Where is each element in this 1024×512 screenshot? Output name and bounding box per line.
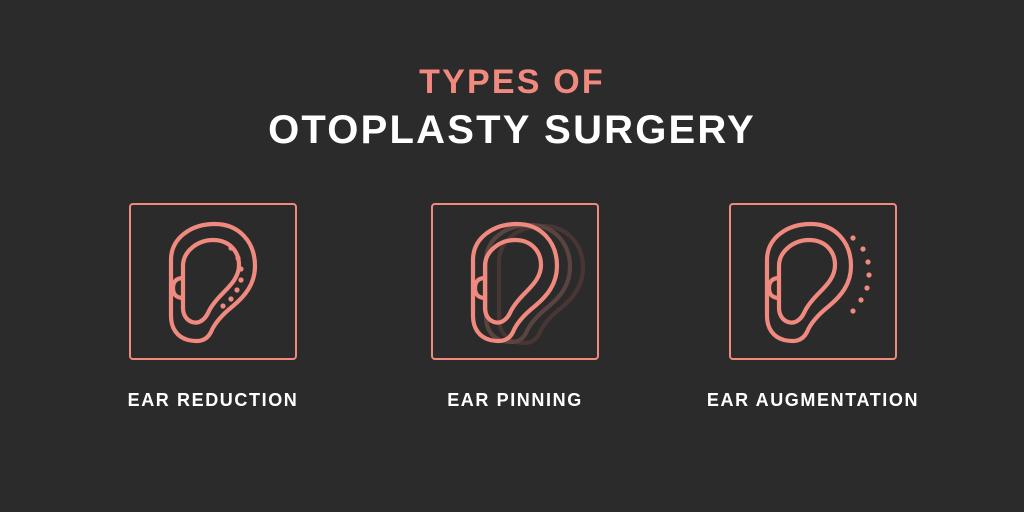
expansion-dot: [850, 235, 855, 240]
incision-dot: [238, 266, 243, 271]
title-line-types-of: TYPES OF: [0, 62, 1024, 102]
icon-box-ear-augmentation: [729, 203, 897, 360]
infographic-canvas: TYPES OF OTOPLASTY SURGERY: [0, 0, 1024, 512]
expansion-dot: [860, 246, 865, 251]
incision-dot: [228, 296, 233, 301]
icon-box-ear-reduction: [129, 203, 297, 360]
expansion-dot: [865, 259, 870, 264]
surgery-type-cards: EAR REDUCTION: [0, 203, 1024, 433]
page-title: TYPES OF OTOPLASTY SURGERY: [0, 62, 1024, 154]
card-ear-pinning[interactable]: EAR PINNING: [431, 203, 599, 360]
incision-dot: [228, 245, 233, 250]
ear-reduction-icon: [153, 218, 273, 346]
incision-dot: [238, 277, 243, 282]
incision-dot: [234, 287, 239, 292]
icon-box-ear-pinning: [431, 203, 599, 360]
expansion-dot: [850, 308, 855, 313]
title-line-otoplasty-surgery: OTOPLASTY SURGERY: [0, 106, 1024, 154]
expansion-dot: [864, 285, 869, 290]
ear-pinning-icon: [445, 218, 585, 346]
incision-dot: [220, 303, 225, 308]
expansion-dot: [866, 272, 871, 277]
expansion-dot: [858, 297, 863, 302]
card-ear-reduction[interactable]: EAR REDUCTION: [129, 203, 297, 360]
label-wrap-ear-augmentation: EAR AUGMENTATION: [609, 360, 1017, 411]
card-ear-augmentation[interactable]: EAR AUGMENTATION: [729, 203, 897, 360]
incision-dot: [235, 255, 240, 260]
card-label-ear-augmentation: EAR AUGMENTATION: [609, 390, 1017, 411]
ear-augmentation-icon: [743, 218, 883, 346]
